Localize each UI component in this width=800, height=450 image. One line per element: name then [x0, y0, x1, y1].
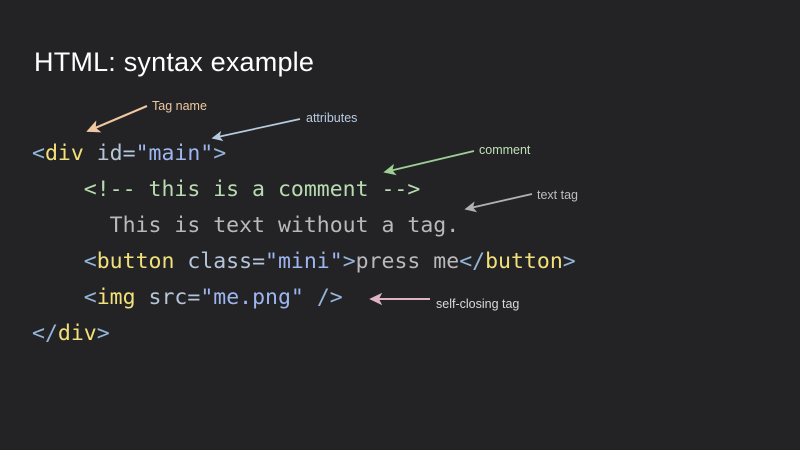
code-token-tag: div — [45, 141, 84, 166]
page-title: HTML: syntax example — [34, 46, 314, 78]
code-token-attr: src= — [136, 285, 201, 310]
code-token-punct: </ — [32, 321, 58, 346]
code-token-string: "mini" — [265, 249, 343, 274]
line-comment: <!-- this is a comment --> — [32, 172, 576, 208]
code-token-punct: > — [343, 249, 356, 274]
line-div-close: </div> — [32, 316, 576, 352]
code-token-comment: <!-- this is a comment --> — [32, 177, 420, 202]
code-token-string: "me.png" — [200, 285, 304, 310]
code-token-punct: </ — [459, 249, 485, 274]
code-token-text: This is text without a tag. — [32, 213, 459, 238]
code-token-punct: < — [32, 285, 97, 310]
annotation-label-text-tag: text tag — [537, 188, 578, 203]
code-token-punct: > — [213, 141, 226, 166]
code-block: <div id="main"> <!-- this is a comment -… — [32, 136, 576, 352]
code-token-tag: div — [58, 321, 97, 346]
code-token-tag: img — [97, 285, 136, 310]
line-button: <button class="mini">press me</button> — [32, 244, 576, 280]
annotation-label-tag-name: Tag name — [152, 99, 207, 114]
code-token-tag: button — [485, 249, 563, 274]
code-token-tag: button — [97, 249, 175, 274]
annotation-label-attributes: attributes — [306, 111, 357, 126]
code-token-string: "main" — [136, 141, 214, 166]
code-token-text: press me — [356, 249, 460, 274]
slide-canvas: HTML: syntax example <div id="main"> <!-… — [0, 0, 800, 450]
code-token-attr: class= — [174, 249, 265, 274]
line-plain-text: This is text without a tag. — [32, 208, 576, 244]
code-token-punct: < — [32, 249, 97, 274]
code-token-attr: id= — [84, 141, 136, 166]
code-token-punct: > — [97, 321, 110, 346]
code-token-punct: < — [32, 141, 45, 166]
annotation-label-self-closing-tag: self-closing tag — [436, 297, 519, 312]
code-token-punct: /> — [304, 285, 343, 310]
code-token-punct: > — [563, 249, 576, 274]
tag-name-arrow-line — [88, 106, 147, 131]
annotation-label-comment: comment — [479, 143, 530, 158]
